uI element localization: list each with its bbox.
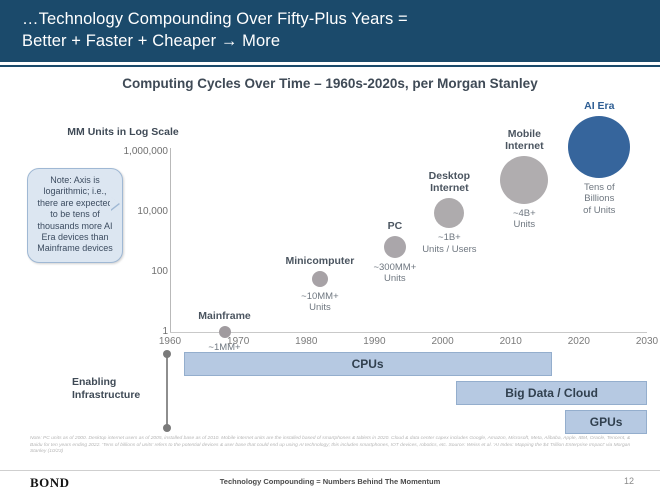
infrastructure-bracket [166, 354, 168, 428]
bubble-ai-era [568, 116, 630, 178]
bracket-dot-top [163, 350, 171, 358]
bubble-label: Mainframe [198, 310, 251, 322]
enabling-infrastructure-section: Enabling Infrastructure CPUsBig Data / C… [0, 348, 660, 434]
bubble-label: AI Era [584, 100, 614, 112]
footer-caption: Technology Compounding = Numbers Behind … [0, 477, 660, 486]
infra-bar-big-data-cloud[interactable]: Big Data / Cloud [456, 381, 647, 405]
bubble-pc [384, 236, 406, 258]
x-tick-label: 2010 [500, 336, 522, 347]
bubble-mobile-internet [500, 156, 548, 204]
header-accent-rule [0, 65, 660, 67]
bubble-minicomputer [312, 271, 328, 287]
slide-title-line1: …Technology Compounding Over Fifty-Plus … [22, 10, 408, 28]
bubble-sublabel: ~1B+ Units / Users [422, 232, 476, 255]
log-scale-note-callout: Note: Axis is logarithmic; i.e., there a… [27, 168, 123, 263]
bracket-dot-bottom [163, 424, 171, 432]
bubble-desktop-internet [434, 198, 464, 228]
slide: …Technology Compounding Over Fifty-Plus … [0, 0, 660, 491]
slide-title: …Technology Compounding Over Fifty-Plus … [22, 8, 642, 52]
footnote: Note: PC units as of 2000. Desktop inter… [30, 436, 640, 456]
slide-footer: BOND Technology Compounding = Numbers Be… [0, 471, 660, 491]
y-tick-label: 100 [78, 266, 168, 277]
bubble-sublabel: ~300MM+ Units [373, 262, 416, 285]
bubble-label: Minicomputer [285, 255, 354, 267]
slide-title-line2: Better + Faster + Cheaper → More [22, 30, 642, 52]
x-tick-label: 1980 [295, 336, 317, 347]
x-tick-label: 2000 [431, 336, 453, 347]
page-number: 12 [624, 476, 634, 486]
x-tick-label: 1970 [227, 336, 249, 347]
callout-tail [110, 196, 119, 210]
y-tick-label: 1,000,000 [78, 146, 168, 157]
x-tick-label: 2030 [636, 336, 658, 347]
bubble-sublabel: Tens of Billions of Units [569, 182, 630, 217]
x-tick-label: 1990 [363, 336, 385, 347]
bubble-sublabel: ~10MM+ Units [301, 291, 339, 314]
y-axis-line [170, 148, 171, 333]
x-tick-label: 1960 [159, 336, 181, 347]
bubble-sublabel: ~4B+ Units [513, 208, 536, 231]
chart-title: Computing Cycles Over Time – 1960s-2020s… [0, 76, 660, 91]
infra-bar-cpus[interactable]: CPUs [184, 352, 552, 376]
bubble-label: Mobile Internet [505, 128, 544, 152]
enabling-infrastructure-label: Enabling Infrastructure [72, 376, 164, 402]
infra-bar-gpus[interactable]: GPUs [565, 410, 647, 434]
x-tick-label: 2020 [568, 336, 590, 347]
slide-header: …Technology Compounding Over Fifty-Plus … [0, 0, 660, 62]
bubble-label: Desktop Internet [429, 170, 470, 194]
x-axis-line [170, 332, 647, 333]
bubble-label: PC [388, 220, 403, 232]
